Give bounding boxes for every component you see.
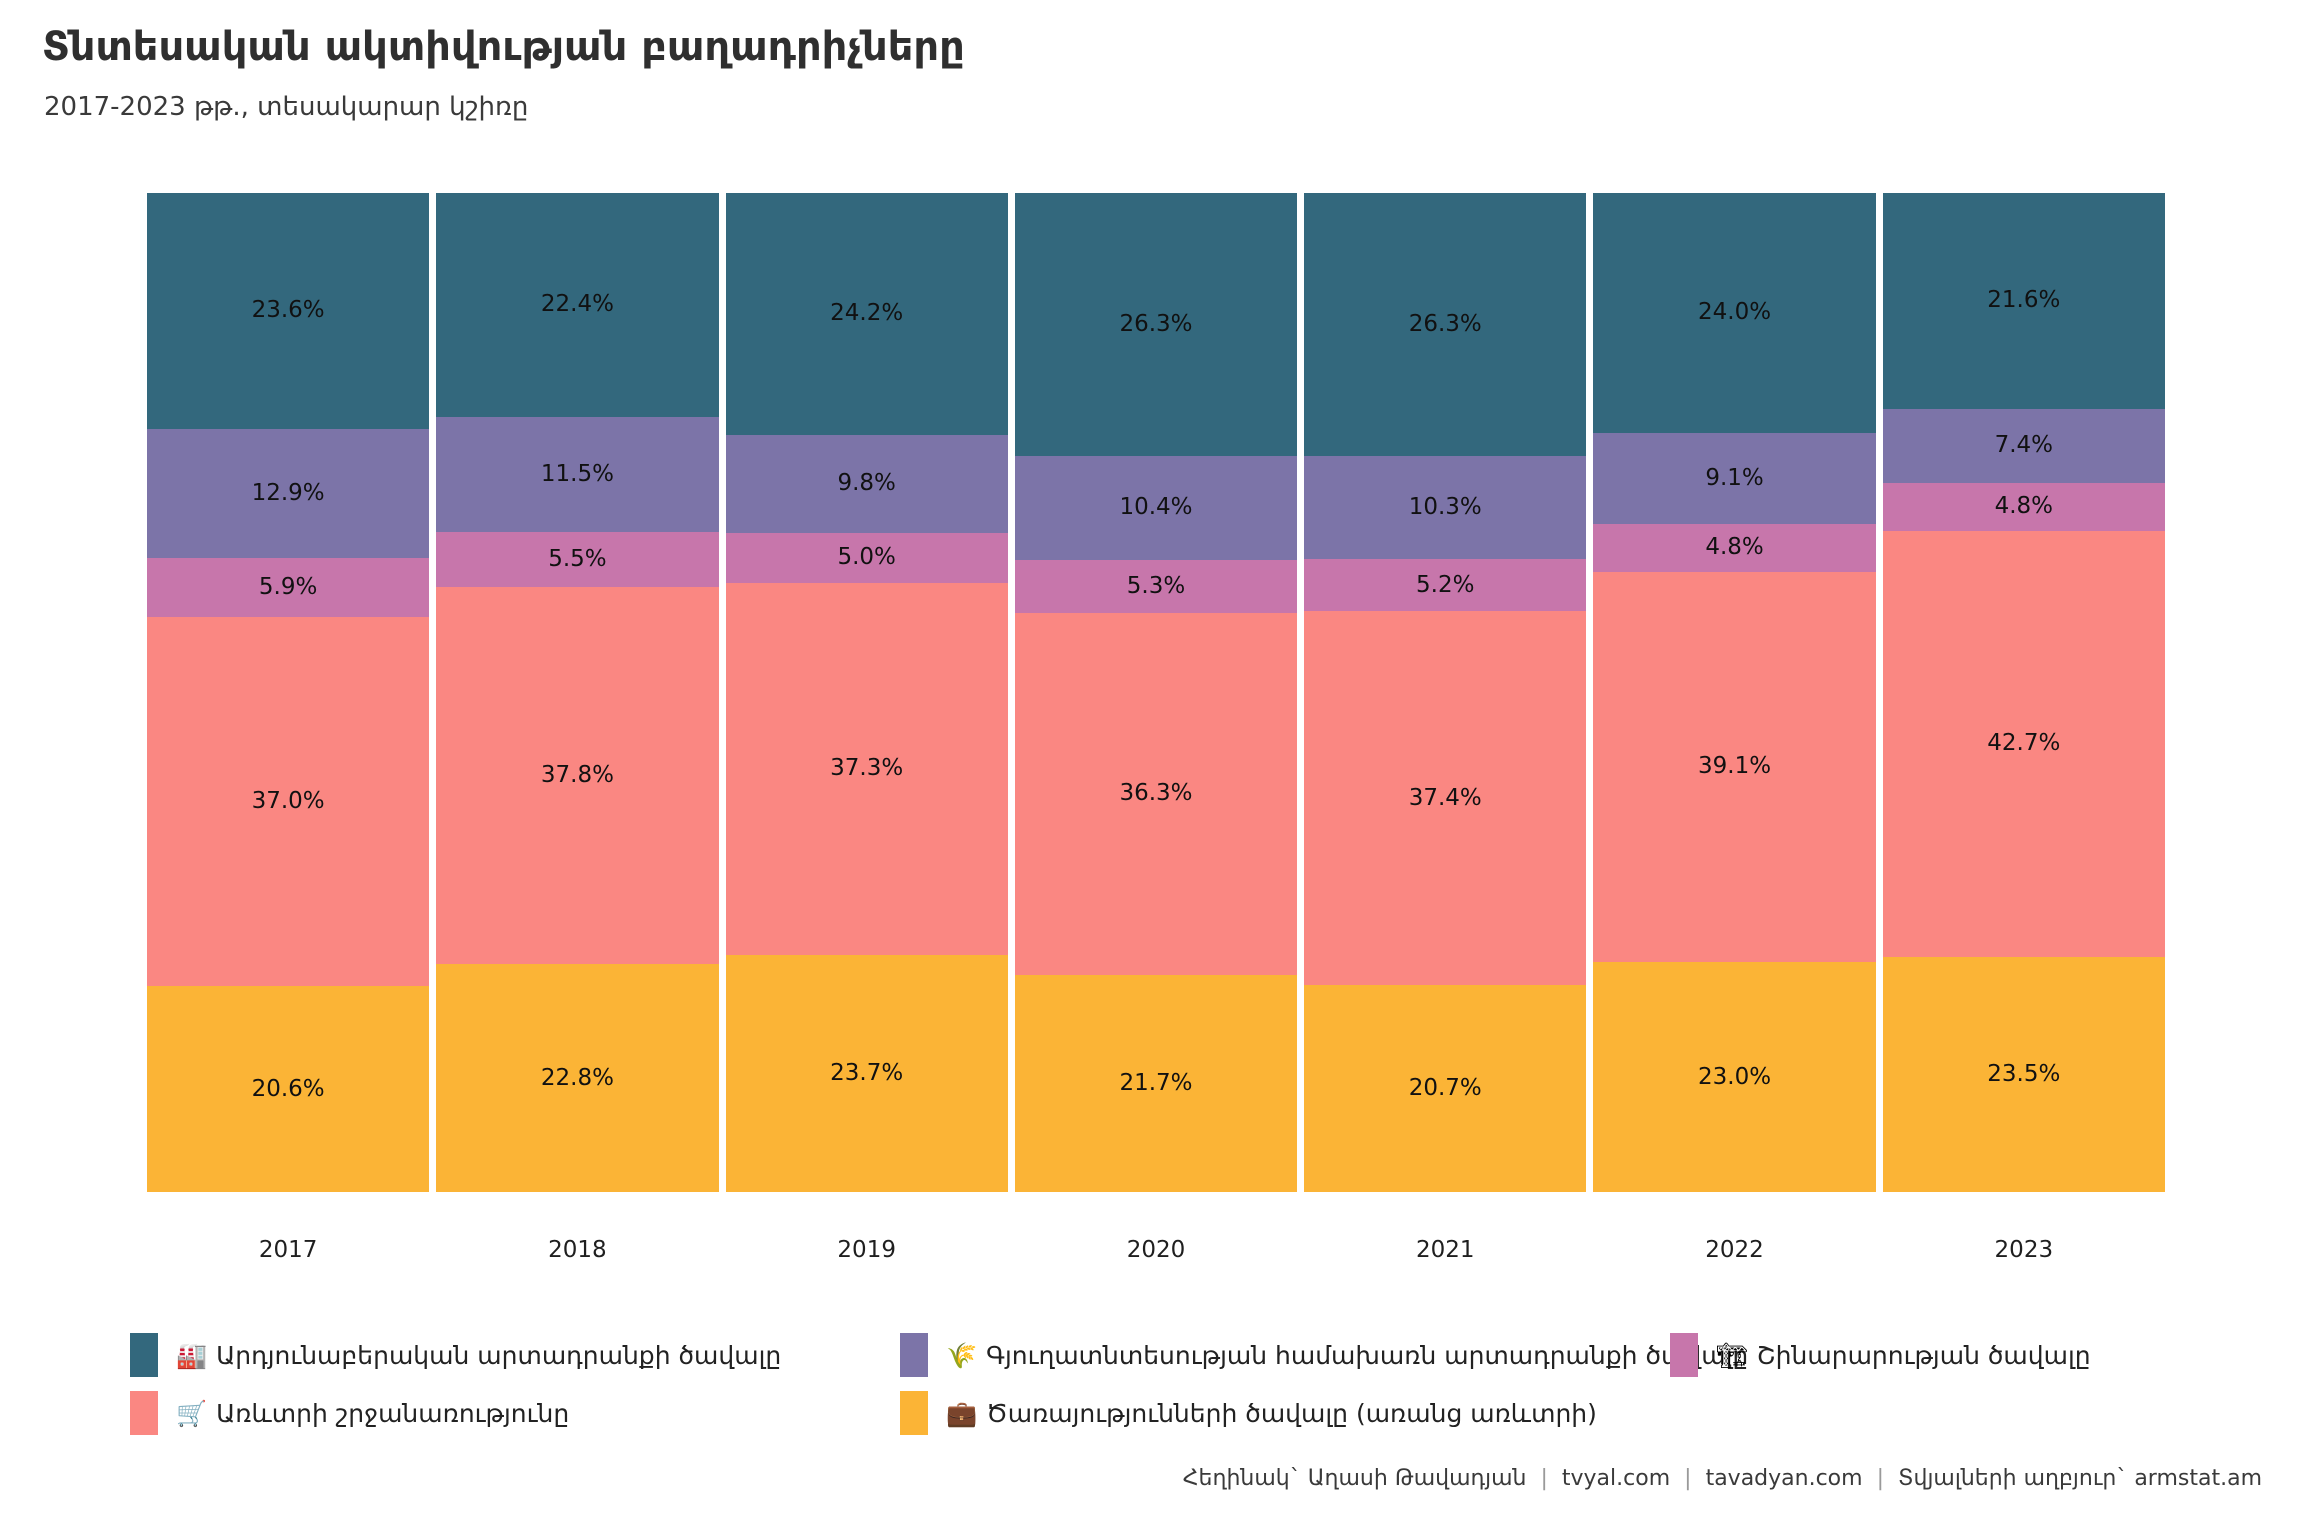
legend-color-swatch [900, 1391, 928, 1435]
bar-segment-value-label: 23.6% [252, 299, 325, 322]
bar-segment-value-label: 5.9% [259, 576, 317, 599]
bar-column[interactable]: 22.4%11.5%5.5%37.8%22.8% [436, 193, 718, 1192]
bar-column[interactable]: 24.2%9.8%5.0%37.3%23.7% [726, 193, 1008, 1192]
bar-segment-agriculture[interactable]: 10.4% [1015, 456, 1297, 560]
x-axis-tick-2020: 2020 [1015, 1237, 1297, 1277]
bar-segment-value-label: 26.3% [1119, 313, 1192, 336]
bar-segment-agriculture[interactable]: 12.9% [147, 429, 429, 558]
bar-segment-services[interactable]: 23.0% [1593, 962, 1875, 1192]
footer-credits: Հեղինակ` Աղասի Թավադյան | tvyal.com | ta… [1183, 1466, 2262, 1491]
bar-segment-services[interactable]: 23.5% [1883, 957, 2165, 1192]
bar-column[interactable]: 21.6%7.4%4.8%42.7%23.5% [1883, 193, 2165, 1192]
bar-segment-industry[interactable]: 22.4% [436, 193, 718, 417]
footer-separator-3: | [1863, 1466, 1898, 1491]
bar-segment-trade[interactable]: 37.0% [147, 617, 429, 987]
legend-item-briefcase[interactable]: 💼Ծառայությունների ծավալը (առանց առևտրի) [900, 1384, 1670, 1442]
bar-segment-value-label: 10.3% [1409, 496, 1482, 519]
footer-separator-2: | [1670, 1466, 1705, 1491]
bar-segment-value-label: 24.0% [1698, 301, 1771, 324]
chart-page: Տնտեսական ակտիվության բաղադրիչները 2017-… [0, 0, 2304, 1536]
bar-segment-value-label: 21.6% [1987, 289, 2060, 312]
footer-separator-1: | [1526, 1466, 1561, 1491]
bar-segment-value-label: 12.9% [252, 482, 325, 505]
rice-plant-icon: 🌾 [946, 1343, 977, 1368]
legend-row-1: 🏭Արդյունաբերական արտադրանքի ծավալը🌾Գյուղ… [130, 1326, 2190, 1384]
bar-segment-value-label: 24.2% [830, 302, 903, 325]
bar-segment-construction[interactable]: 5.3% [1015, 560, 1297, 613]
bar-column[interactable]: 26.3%10.4%5.3%36.3%21.7% [1015, 193, 1297, 1192]
bar-segment-value-label: 22.4% [541, 293, 614, 316]
bar-segment-agriculture[interactable]: 11.5% [436, 417, 718, 532]
bar-column[interactable]: 23.6%12.9%5.9%37.0%20.6% [147, 193, 429, 1192]
legend-label: Առևտրի շրջանառությունը [216, 1399, 569, 1428]
briefcase-icon: 💼 [946, 1401, 977, 1426]
bar-column[interactable]: 26.3%10.3%5.2%37.4%20.7% [1304, 193, 1586, 1192]
shopping-cart-icon: 🛒 [176, 1401, 207, 1426]
bar-segment-value-label: 5.5% [548, 548, 606, 571]
bar-segment-construction[interactable]: 5.2% [1304, 559, 1586, 611]
bar-segment-construction[interactable]: 5.0% [726, 533, 1008, 583]
bar-segment-construction[interactable]: 5.5% [436, 532, 718, 587]
footer-site-tavadyan[interactable]: tavadyan.com [1706, 1466, 1863, 1491]
bar-segment-trade[interactable]: 37.3% [726, 583, 1008, 956]
bar-segment-construction[interactable]: 5.9% [147, 558, 429, 617]
stacked-bar-plot-area: 23.6%12.9%5.9%37.0%20.6%22.4%11.5%5.5%37… [147, 193, 2165, 1192]
x-axis-tick-2022: 2022 [1593, 1237, 1875, 1277]
x-axis-tick-2023: 2023 [1883, 1237, 2165, 1277]
bar-segment-agriculture[interactable]: 7.4% [1883, 409, 2165, 483]
bar-segment-trade[interactable]: 42.7% [1883, 531, 2165, 958]
chart-legend: 🏭Արդյունաբերական արտադրանքի ծավալը🌾Գյուղ… [130, 1326, 2190, 1442]
bar-segment-construction[interactable]: 4.8% [1593, 524, 1875, 572]
bar-segment-value-label: 5.2% [1416, 574, 1474, 597]
bar-segment-agriculture[interactable]: 9.8% [726, 435, 1008, 533]
construction-crane-icon: 🏗 [1716, 1343, 1748, 1368]
legend-label: Արդյունաբերական արտադրանքի ծավալը [216, 1341, 781, 1370]
bar-segment-value-label: 9.8% [837, 472, 895, 495]
legend-color-swatch [130, 1391, 158, 1435]
bar-segment-value-label: 21.7% [1119, 1072, 1192, 1095]
bar-segment-industry[interactable]: 26.3% [1015, 193, 1297, 456]
bar-segment-industry[interactable]: 23.6% [147, 193, 429, 429]
bar-segment-value-label: 5.3% [1127, 575, 1185, 598]
bar-column[interactable]: 24.0%9.1%4.8%39.1%23.0% [1593, 193, 1875, 1192]
bar-segment-trade[interactable]: 37.8% [436, 587, 718, 965]
legend-item-shopping-cart[interactable]: 🛒Առևտրի շրջանառությունը [130, 1384, 900, 1442]
bar-segment-agriculture[interactable]: 10.3% [1304, 456, 1586, 559]
bar-segment-value-label: 4.8% [1705, 536, 1763, 559]
x-axis-tick-labels: 2017201820192020202120222023 [147, 1237, 2165, 1277]
bar-segment-value-label: 23.5% [1987, 1063, 2060, 1086]
bar-segment-services[interactable]: 22.8% [436, 964, 718, 1192]
bar-segment-value-label: 5.0% [837, 546, 895, 569]
bar-segment-value-label: 20.7% [1409, 1077, 1482, 1100]
legend-item-construction-crane[interactable]: 🏗Շինարարության ծավալը [1670, 1326, 2190, 1384]
footer-site-tvyal[interactable]: tvyal.com [1562, 1466, 1670, 1491]
legend-label: Շինարարության ծավալը [1757, 1341, 2091, 1370]
bar-segment-value-label: 20.6% [252, 1078, 325, 1101]
bar-segment-industry[interactable]: 24.2% [726, 193, 1008, 435]
legend-color-swatch [900, 1333, 928, 1377]
footer-author: Հեղինակ` Աղասի Թավադյան [1183, 1466, 1527, 1491]
bar-segment-value-label: 37.8% [541, 764, 614, 787]
bar-segment-value-label: 37.3% [830, 757, 903, 780]
bar-segment-value-label: 11.5% [541, 463, 614, 486]
x-axis-tick-2017: 2017 [147, 1237, 429, 1277]
bar-segment-industry[interactable]: 21.6% [1883, 193, 2165, 409]
legend-item-factory[interactable]: 🏭Արդյունաբերական արտադրանքի ծավալը [130, 1326, 900, 1384]
bar-segment-value-label: 22.8% [541, 1067, 614, 1090]
bar-segment-value-label: 9.1% [1705, 467, 1763, 490]
bar-segment-value-label: 7.4% [1995, 434, 2053, 457]
page-subtitle: 2017-2023 թթ., տեսակարար կշիռը [44, 92, 528, 122]
legend-label: Ծառայությունների ծավալը (առանց առևտրի) [986, 1399, 1597, 1428]
bar-segment-services[interactable]: 20.7% [1304, 985, 1586, 1192]
bar-segment-value-label: 26.3% [1409, 313, 1482, 336]
factory-icon: 🏭 [176, 1343, 207, 1368]
bar-segment-services[interactable]: 20.6% [147, 986, 429, 1192]
bar-segment-trade[interactable]: 37.4% [1304, 611, 1586, 985]
x-axis-tick-2021: 2021 [1304, 1237, 1586, 1277]
x-axis-tick-2019: 2019 [726, 1237, 1008, 1277]
bar-segment-value-label: 36.3% [1119, 782, 1192, 805]
bar-segment-trade[interactable]: 39.1% [1593, 572, 1875, 963]
legend-row-2: 🛒Առևտրի շրջանառությունը💼Ծառայությունների… [130, 1384, 2190, 1442]
bar-segment-value-label: 39.1% [1698, 755, 1771, 778]
bar-segment-value-label: 37.0% [252, 790, 325, 813]
bar-segment-trade[interactable]: 36.3% [1015, 613, 1297, 976]
legend-color-swatch [130, 1333, 158, 1377]
bar-segment-value-label: 23.0% [1698, 1066, 1771, 1089]
bar-segment-value-label: 23.7% [830, 1062, 903, 1085]
bar-segment-industry[interactable]: 24.0% [1593, 193, 1875, 433]
footer-data-source: Տվյալների աղբյուր` armstat.am [1898, 1466, 2262, 1491]
bar-segment-industry[interactable]: 26.3% [1304, 193, 1586, 456]
bar-segment-value-label: 10.4% [1119, 496, 1192, 519]
bar-segment-agriculture[interactable]: 9.1% [1593, 433, 1875, 524]
bar-segment-services[interactable]: 23.7% [726, 955, 1008, 1192]
x-axis-tick-2018: 2018 [436, 1237, 718, 1277]
legend-item-rice-plant[interactable]: 🌾Գյուղատնտեսության համախառն արտադրանքի ծ… [900, 1326, 1670, 1384]
page-title: Տնտեսական ակտիվության բաղադրիչները [42, 24, 965, 70]
legend-label: Գյուղատնտեսության համախառն արտադրանքի ծա… [986, 1341, 1748, 1370]
bar-segment-services[interactable]: 21.7% [1015, 975, 1297, 1192]
bar-segment-construction[interactable]: 4.8% [1883, 483, 2165, 531]
bar-segment-value-label: 42.7% [1987, 732, 2060, 755]
bar-segment-value-label: 37.4% [1409, 787, 1482, 810]
legend-color-swatch [1670, 1333, 1698, 1377]
bar-segment-value-label: 4.8% [1995, 495, 2053, 518]
